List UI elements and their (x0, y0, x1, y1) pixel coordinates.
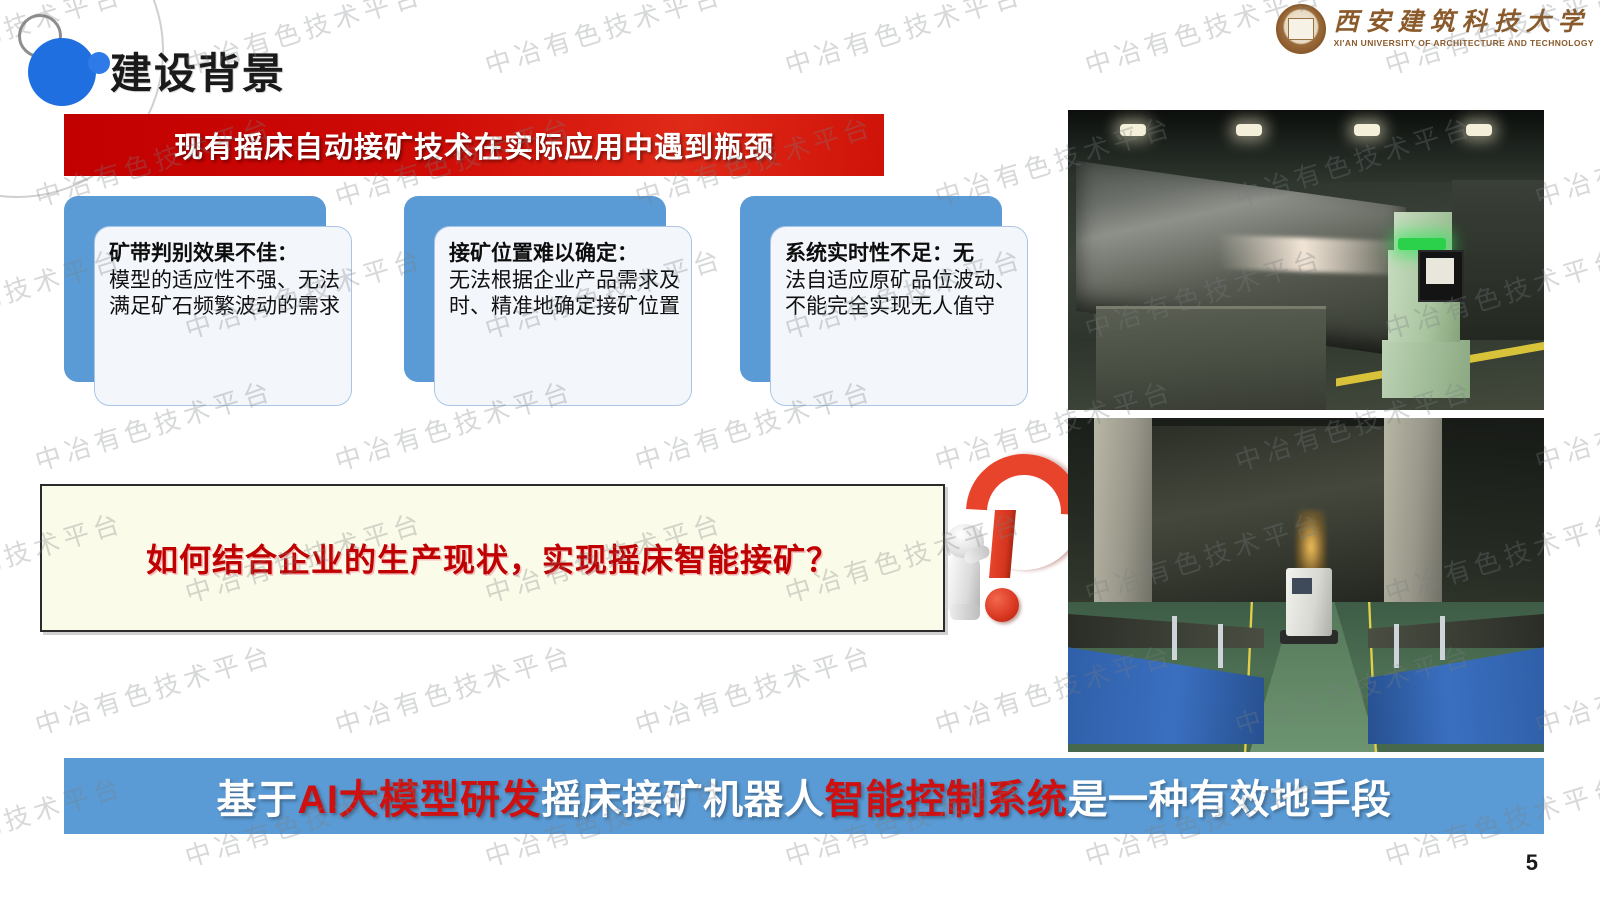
card-title: 系统实时性不足：无 (785, 241, 1017, 267)
question-callout-box: 如何结合企业的生产现状，实现摇床智能接矿？ (40, 484, 945, 632)
photo-background-machinery (1152, 426, 1384, 622)
page-number: 5 (1526, 850, 1538, 876)
photo-right-wall (1452, 180, 1544, 340)
watermark-text: 中冶有色技术平台 (30, 635, 278, 743)
card-title: 接矿位置难以确定： (449, 241, 681, 267)
photo-support-post (1440, 616, 1445, 660)
university-seal-icon (1276, 4, 1326, 54)
photo-lamp (1120, 124, 1146, 136)
photo-agv-robot (1286, 568, 1332, 636)
question-callout-text: 如何结合企业的生产现状，实现摇床智能接矿？ (146, 535, 839, 581)
conclusion-banner-text: 基于AI大模型研发摇床接矿机器人智能控制系统是一种有效地手段 (217, 767, 1392, 825)
card-body: 法自适应原矿品位波动、不能完全实现无人值守 (785, 268, 1017, 319)
decorative-large-dot-icon (28, 38, 96, 106)
photo-support-post (1172, 616, 1177, 660)
photo-robot-screen (1418, 250, 1464, 302)
conclusion-segment-5: 是一种有效地手段 (1068, 778, 1392, 822)
logo-text-group: 西安建筑科技大学 XI'AN UNIVERSITY OF ARCHITECTUR… (1334, 10, 1594, 48)
question-mark-3d-icon (930, 452, 1050, 637)
conclusion-segment-3: 摇床接矿机器人 (541, 778, 825, 822)
photo-light-sheen (1217, 235, 1409, 276)
watermark-text: 中冶有色技术平台 (330, 635, 578, 743)
problem-card: 系统实时性不足：无 法自适应原矿品位波动、不能完全实现无人值守 (740, 196, 1032, 412)
photo-concrete-column (1094, 418, 1152, 628)
decorative-small-dot-icon (88, 52, 110, 74)
card-content: 接矿位置难以确定： 无法根据企业产品需求及时、精准地确定接矿位置 (434, 226, 692, 406)
conclusion-banner: 基于AI大模型研发摇床接矿机器人智能控制系统是一种有效地手段 (64, 758, 1544, 834)
card-content: 系统实时性不足：无 法自适应原矿品位波动、不能完全实现无人值守 (770, 226, 1028, 406)
watermark-text: 中冶有色技术平台 (780, 0, 1028, 82)
photo-robot-base (1382, 340, 1470, 398)
red-headline-banner: 现有摇床自动接矿技术在实际应用中遇到瓶颈 (64, 114, 884, 176)
red-headline-text: 现有摇床自动接矿技术在实际应用中遇到瓶颈 (174, 124, 774, 166)
thinking-person-leg (950, 604, 980, 620)
card-title: 矿带判别效果不佳： (109, 241, 341, 267)
photo-support-post (1394, 624, 1399, 668)
photo-support-post (1218, 624, 1223, 668)
problem-cards-group: 矿带判别效果不佳： 模型的适应性不强、无法满足矿石频繁波动的需求 接矿位置难以确… (64, 196, 1064, 412)
conclusion-segment-2: AI大模型研发 (298, 778, 542, 822)
problem-card: 接矿位置难以确定： 无法根据企业产品需求及时、精准地确定接矿位置 (404, 196, 696, 412)
photo-lamp (1354, 124, 1380, 136)
problem-card: 矿带判别效果不佳： 模型的适应性不强、无法满足矿石频繁波动的需求 (64, 196, 356, 412)
shaking-table-robot-photo (1068, 110, 1544, 410)
watermark-text: 中冶有色技术平台 (480, 0, 728, 82)
photo-robot-indicator-light (1398, 238, 1446, 250)
slide-canvas: 建设背景 西安建筑科技大学 XI'AN UNIVERSITY OF ARCHIT… (0, 0, 1600, 900)
logo-name-en: XI'AN UNIVERSITY OF ARCHITECTURE AND TEC… (1334, 39, 1594, 48)
card-body: 无法根据企业产品需求及时、精准地确定接矿位置 (449, 268, 681, 319)
watermark-text: 中冶有色技术平台 (630, 635, 878, 743)
photo-lamp (1236, 124, 1262, 136)
photo-lamp (1466, 124, 1492, 136)
university-logo: 西安建筑科技大学 XI'AN UNIVERSITY OF ARCHITECTUR… (1276, 4, 1594, 54)
conclusion-segment-1: 基于 (217, 778, 298, 822)
factory-aisle-agv-photo (1068, 418, 1544, 752)
page-title: 建设背景 (110, 40, 286, 101)
card-content: 矿带判别效果不佳： 模型的适应性不强、无法满足矿石频繁波动的需求 (94, 226, 352, 406)
photo-ore-trough (1096, 306, 1326, 410)
question-mark-dot (985, 588, 1019, 622)
logo-name-cn: 西安建筑科技大学 (1334, 10, 1594, 35)
conclusion-segment-4: 智能控制系统 (825, 778, 1068, 822)
photo-concrete-column (1384, 418, 1442, 628)
card-body: 模型的适应性不强、无法满足矿石频繁波动的需求 (109, 268, 341, 319)
